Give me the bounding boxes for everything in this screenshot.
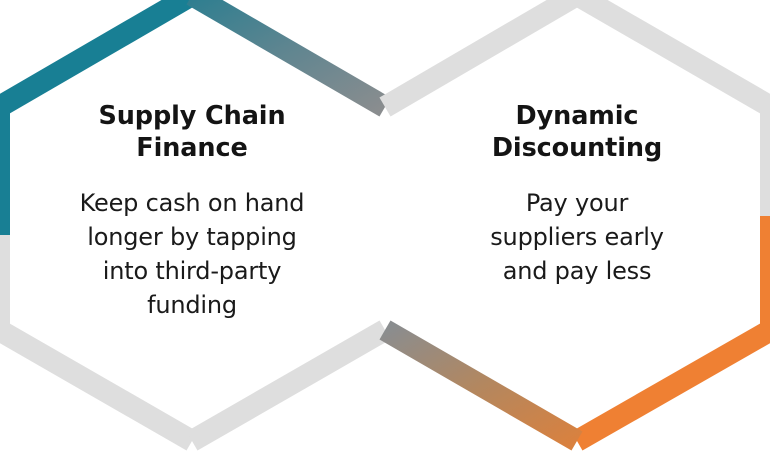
hexagon-right-body-line-2: suppliers early: [490, 223, 664, 251]
hexagon-left-body-line-2: longer by tapping: [87, 223, 296, 251]
hexagon-right-body: Pay your suppliers early and pay less: [427, 186, 727, 288]
hexagon-right-title: Dynamic Discounting: [427, 100, 727, 164]
hexagon-left-body-line-4: funding: [147, 291, 237, 319]
hexagon-left-body: Keep cash on hand longer by tapping into…: [42, 186, 342, 322]
hexagon-left-spacer: [42, 164, 342, 186]
hexagon-right-body-line-1: Pay your: [526, 189, 628, 217]
hexagon-left-title-line-2: Finance: [136, 133, 247, 163]
hexagon-right-title-line-2: Discounting: [492, 133, 662, 163]
hexagon-left-title-line-1: Supply Chain: [98, 101, 285, 131]
hexagon-left-text-block: Supply Chain Finance Keep cash on hand l…: [42, 100, 342, 322]
hexagon-right-body-line-3: and pay less: [503, 257, 652, 285]
hexagon-right-title-line-1: Dynamic: [516, 101, 639, 131]
hexagon-left-body-line-1: Keep cash on hand: [80, 189, 305, 217]
hexagon-right-spacer: [427, 164, 727, 186]
hexagon-left-body-line-3: into third-party: [103, 257, 281, 285]
diagram-canvas: Supply Chain Finance Keep cash on hand l…: [0, 0, 770, 458]
hexagon-right-text-block: Dynamic Discounting Pay your suppliers e…: [427, 100, 727, 288]
hexagon-left-title: Supply Chain Finance: [42, 100, 342, 164]
